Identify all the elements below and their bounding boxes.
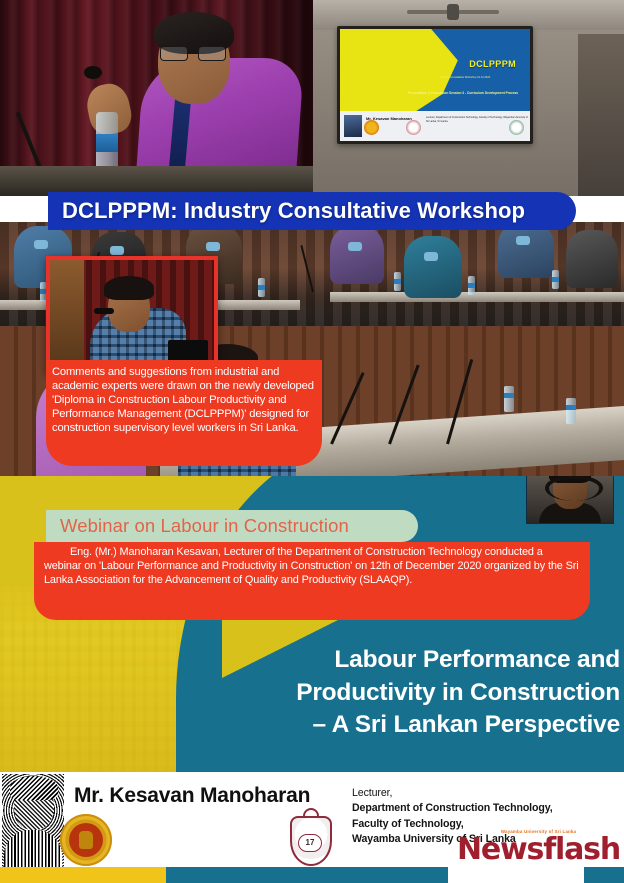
slide-session: Presentation & Discussion Session 3 - Cu… xyxy=(404,91,522,96)
headphones-icon xyxy=(545,476,603,501)
headline-line-3: – A Sri Lankan Perspective xyxy=(220,709,620,742)
water-bottle xyxy=(552,270,559,289)
face-mask-icon xyxy=(424,252,438,261)
workshop-caption-text: Comments and suggestions from industrial… xyxy=(52,365,314,436)
slide-seal-lion-icon xyxy=(364,120,379,135)
face-mask-icon xyxy=(34,240,48,249)
strip-teal-right xyxy=(584,867,624,883)
slide-seal-faculty-icon xyxy=(509,120,524,135)
face-mask-icon xyxy=(348,242,362,251)
water-bottle xyxy=(96,112,118,174)
attendee xyxy=(498,222,554,278)
face-mask-icon xyxy=(516,236,530,245)
portrait-hair xyxy=(10,776,58,800)
webinar-band-label: Webinar on Labour in Construction xyxy=(60,515,349,537)
ceiling-fan-icon xyxy=(407,4,499,20)
eyeglasses-icon xyxy=(160,46,226,59)
slide-presenter-name: Mr. Kesavan Manoharan xyxy=(366,116,412,121)
newsflash-logo: Wayamba University of Sri Lanka Newsflas… xyxy=(457,829,620,867)
webinar-caption-text: Eng. (Mr.) Manoharan Kesavan, Lecturer o… xyxy=(44,546,580,588)
newsflash-wordmark: Newsflash xyxy=(457,832,620,867)
headline-line-1: Labour Performance and xyxy=(220,644,620,677)
inset-person-hair xyxy=(104,276,154,300)
water-bottle xyxy=(468,276,475,295)
workshop-caption-box: Comments and suggestions from industrial… xyxy=(46,360,322,466)
photo-projector-slide: DCLPPPM Industry Consultative Workshop 3… xyxy=(313,0,624,196)
presenter-halftone-portrait xyxy=(2,774,64,870)
poster-footer: Mr. Kesavan Manoharan 17 Lecturer, Depar… xyxy=(0,772,624,883)
face-mask-icon xyxy=(206,242,220,251)
slide-presenter-photo xyxy=(344,115,362,137)
table xyxy=(330,292,624,302)
webcam-thumbnail xyxy=(526,476,614,524)
webinar-section: Webinar on Labour in Construction Eng. (… xyxy=(0,476,624,772)
strip-teal xyxy=(166,867,448,883)
webinar-caption-box: Eng. (Mr.) Manoharan Kesavan, Lecturer o… xyxy=(34,542,590,620)
water-bottle xyxy=(504,386,514,412)
slide-footer: Mr. Kesavan Manoharan Lecturer, Departme… xyxy=(340,111,530,141)
water-bottle xyxy=(258,278,265,297)
presenter-role: Lecturer, xyxy=(352,786,553,801)
presenter-department: Department of Construction Technology, xyxy=(352,801,553,816)
portrait-body xyxy=(4,830,62,870)
water-bottle xyxy=(566,398,576,424)
door xyxy=(578,34,624,196)
microphone-icon xyxy=(94,308,114,314)
headline-line-2: Productivity in Construction xyxy=(220,677,620,710)
workshop-banner: DCLPPPM: Industry Consultative Workshop xyxy=(48,192,576,230)
attendee xyxy=(566,230,618,288)
attendee xyxy=(330,226,384,284)
inset-photo-presenter xyxy=(46,256,218,374)
footer-color-strip xyxy=(0,867,624,883)
slide-subtitle: Industry Consultative Workshop 31.12.202… xyxy=(410,76,520,80)
webinar-headline: Labour Performance and Productivity in C… xyxy=(220,644,620,742)
seal-number: 17 xyxy=(298,834,322,852)
slide-seal-university-icon xyxy=(406,120,421,135)
photo-keynote-speaker xyxy=(0,0,313,196)
face-mask-icon xyxy=(110,246,124,255)
newsflash-poster: DCLPPPM Industry Consultative Workshop 3… xyxy=(0,0,624,883)
slide-title: DCLPPPM xyxy=(469,59,516,69)
presenter-name: Mr. Kesavan Manoharan xyxy=(74,784,310,808)
webinar-band: Webinar on Labour in Construction xyxy=(46,510,418,542)
top-photo-row: DCLPPPM Industry Consultative Workshop 3… xyxy=(0,0,624,196)
microphone-icon xyxy=(84,66,102,79)
wayamba-university-seal-icon: 17 xyxy=(286,808,332,870)
sri-lanka-lion-seal-icon xyxy=(60,814,112,866)
water-bottle xyxy=(394,272,401,291)
strip-yellow xyxy=(0,867,166,883)
projection-screen: DCLPPPM Industry Consultative Workshop 3… xyxy=(337,26,533,144)
attendee xyxy=(404,236,462,298)
inset-podium xyxy=(50,260,84,370)
slide-content: DCLPPPM Industry Consultative Workshop 3… xyxy=(340,29,530,141)
workshop-banner-label: DCLPPPM: Industry Consultative Workshop xyxy=(62,198,525,224)
